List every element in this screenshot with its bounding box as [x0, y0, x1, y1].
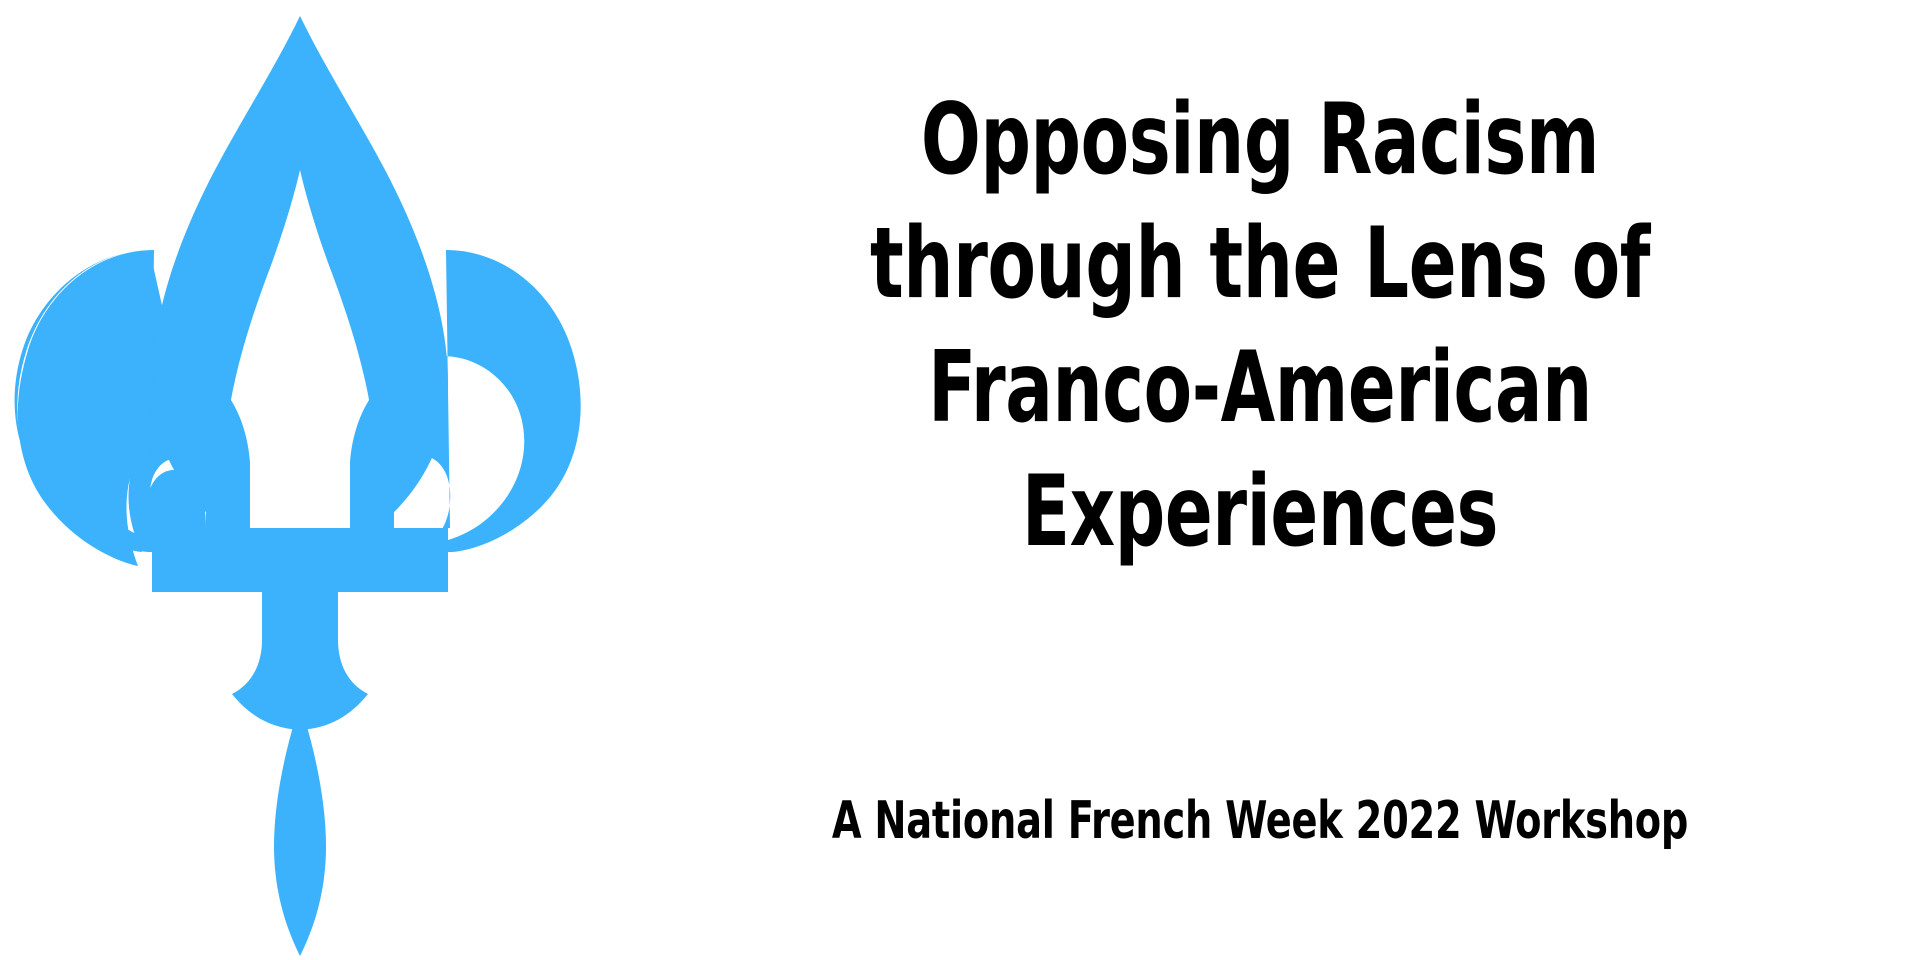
- title-line-3: Franco-American: [732, 326, 1788, 450]
- page-subtitle: A National French Week 2022 Workshop: [600, 790, 1920, 852]
- subtitle-text: A National French Week 2022 Workshop: [719, 790, 1801, 852]
- text-column: Opposing Racism through the Lens of Fran…: [600, 0, 1920, 960]
- fleur-de-lis-icon: [0, 0, 600, 960]
- title-line-2: through the Lens of: [732, 202, 1788, 326]
- title-line-1: Opposing Racism: [732, 78, 1788, 202]
- page-title: Opposing Racism through the Lens of Fran…: [600, 78, 1920, 574]
- title-line-4: Experiences: [732, 450, 1788, 574]
- poster-canvas: Opposing Racism through the Lens of Fran…: [0, 0, 1920, 960]
- fleur-de-lis-emblem: [0, 0, 600, 960]
